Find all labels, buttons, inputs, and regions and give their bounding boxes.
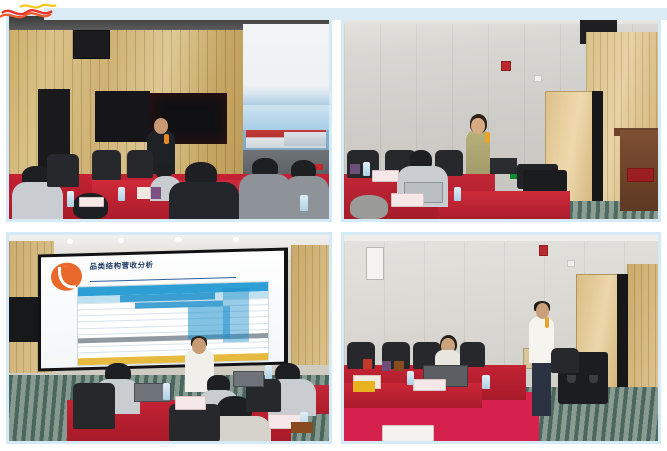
photo-collage-page: 品类结构营收分析 bbox=[0, 0, 667, 451]
presentation-slide: 品类结构营收分析 bbox=[41, 251, 284, 369]
ceiling-speaker bbox=[73, 30, 110, 58]
slide-title: 品类结构营收分析 bbox=[90, 259, 236, 281]
wall-switch bbox=[534, 75, 542, 82]
wall-light bbox=[366, 247, 384, 280]
microphone bbox=[164, 134, 168, 144]
top-band-decoration bbox=[44, 8, 667, 20]
slide-table bbox=[77, 281, 269, 366]
wall-switch bbox=[567, 260, 575, 267]
photo-top-left[interactable] bbox=[9, 16, 329, 219]
wavy-lines-decoration-icon bbox=[0, 0, 70, 22]
fire-alarm-icon bbox=[539, 245, 549, 255]
photo-bottom-right[interactable] bbox=[344, 235, 658, 441]
microphone bbox=[545, 317, 549, 327]
photo-bottom-left[interactable]: 品类结构营收分析 bbox=[9, 235, 329, 441]
fire-alarm-icon bbox=[501, 61, 511, 71]
microphone bbox=[485, 132, 489, 143]
photo-top-right[interactable] bbox=[344, 16, 658, 219]
